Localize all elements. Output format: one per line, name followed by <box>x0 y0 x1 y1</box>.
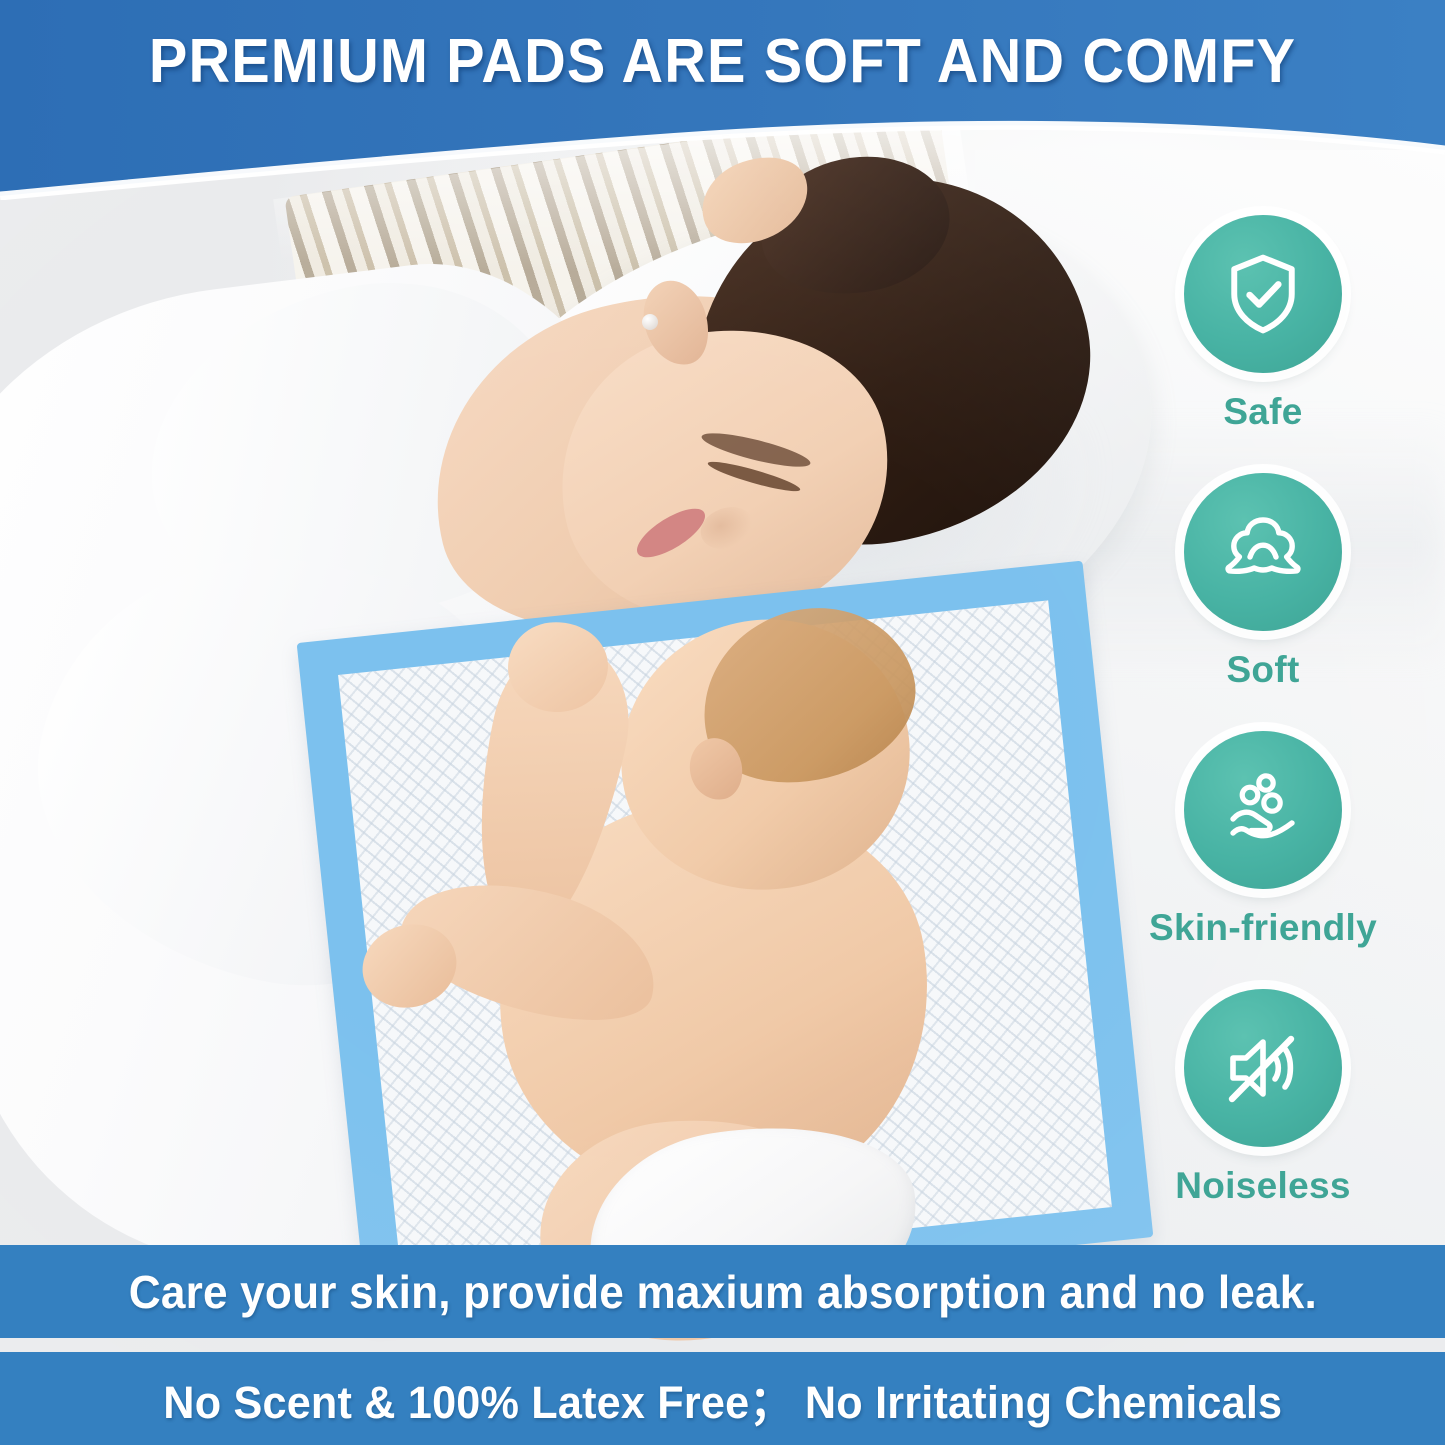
shield-check-icon <box>1217 248 1309 340</box>
footer-bar-secondary: No Scent & 100% Latex Free； No Irritatin… <box>0 1352 1445 1445</box>
footer-line-1: Care your skin, provide maxium absorptio… <box>128 1265 1316 1319</box>
badge-circle <box>1184 473 1342 631</box>
feature-badge-noiseless[interactable]: Noiseless <box>1103 989 1423 1207</box>
cotton-boll-icon <box>1215 504 1311 600</box>
product-marketing-image: PREMIUM PADS ARE SOFT AND COMFY Safe Sof… <box>0 0 1445 1445</box>
badge-circle <box>1184 731 1342 889</box>
feature-label: Noiseless <box>1103 1165 1423 1207</box>
header-banner: PREMIUM PADS ARE SOFT AND COMFY <box>0 0 1445 200</box>
feature-badge-safe[interactable]: Safe <box>1103 215 1423 433</box>
footer-bar-primary: Care your skin, provide maxium absorptio… <box>0 1245 1445 1338</box>
badge-circle <box>1184 989 1342 1147</box>
feature-badge-soft[interactable]: Soft <box>1103 473 1423 691</box>
page-title: PREMIUM PADS ARE SOFT AND COMFY <box>51 26 1395 97</box>
feature-label: Skin-friendly <box>1103 907 1423 949</box>
badge-circle <box>1184 215 1342 373</box>
feature-label: Safe <box>1103 391 1423 433</box>
feature-label: Soft <box>1103 649 1423 691</box>
feature-badge-skin-friendly[interactable]: Skin-friendly <box>1103 731 1423 949</box>
hand-bubbles-icon <box>1215 762 1311 858</box>
speaker-muted-icon <box>1215 1020 1311 1116</box>
footer-line-2: No Scent & 100% Latex Free； No Irritatin… <box>163 1366 1282 1431</box>
